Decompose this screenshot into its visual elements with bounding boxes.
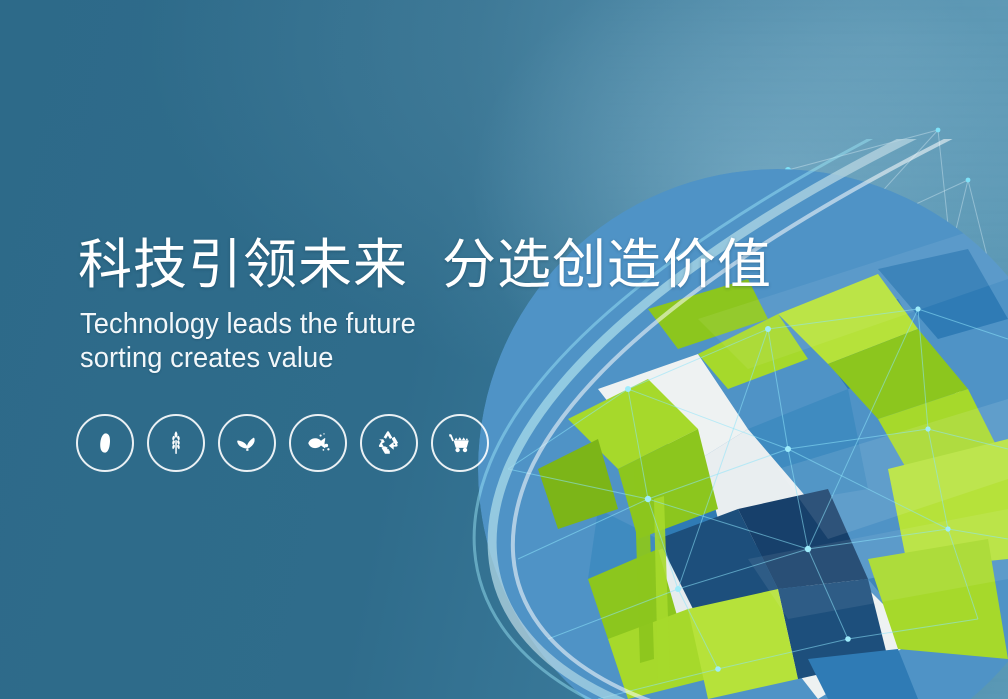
copy-block: 科技引领未来分选创造价值 Technology leads the future… — [78, 236, 778, 376]
wheat-icon[interactable] — [147, 414, 205, 472]
subtitle-line-1: Technology leads the future — [80, 308, 736, 342]
page-title: 科技引领未来分选创造价值 — [78, 236, 778, 294]
leaf-icon[interactable] — [218, 414, 276, 472]
fish-icon[interactable] — [289, 414, 347, 472]
page-subtitle: Technology leads the future sorting crea… — [80, 308, 736, 375]
recycle-icon[interactable] — [360, 414, 418, 472]
headline-secondary: 分选创造价值 — [442, 235, 772, 295]
headline-primary: 科技引领未来 — [78, 235, 408, 295]
industry-icon-row — [76, 414, 489, 472]
banner-stage: 科技引领未来分选创造价值 Technology leads the future… — [0, 0, 1008, 699]
subtitle-line-2: sorting creates value — [80, 342, 736, 376]
mine-cart-icon[interactable] — [431, 414, 489, 472]
low-poly-globe-graphic — [448, 139, 1008, 699]
rice-grain-icon[interactable] — [76, 414, 134, 472]
